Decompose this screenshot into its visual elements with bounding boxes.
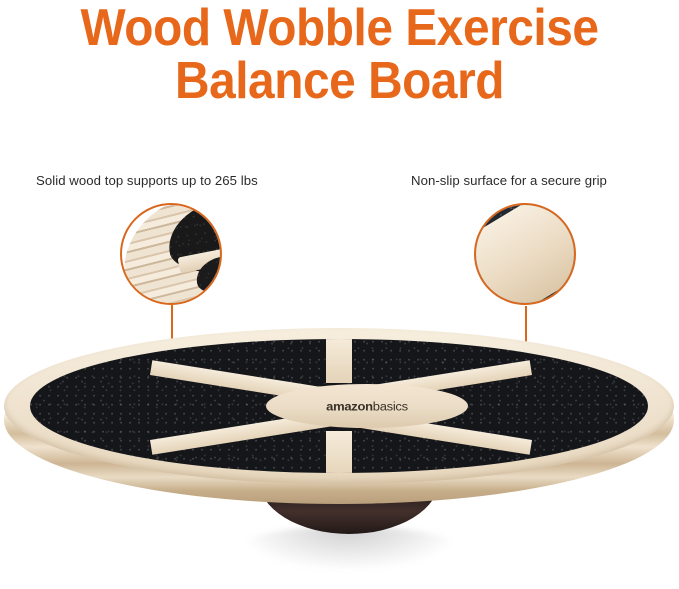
- product-infographic: Wood Wobble Exercise Balance Board Solid…: [0, 0, 679, 589]
- board-center-hub: amazonbasics: [266, 384, 468, 428]
- wood-spoke-bottom: [326, 431, 352, 473]
- callout-magnifier-left: [120, 203, 222, 305]
- callout-caption-right: Non-slip surface for a secure grip: [411, 173, 607, 188]
- callout-caption-left: Solid wood top supports up to 265 lbs: [36, 173, 258, 188]
- wood-spoke-top: [326, 339, 352, 383]
- logo-brand-prefix: amazon: [326, 399, 373, 413]
- page-title: Wood Wobble Exercise Balance Board: [0, 2, 679, 108]
- balance-board-image: amazonbasics: [4, 328, 674, 508]
- logo-brand-suffix: basics: [373, 399, 408, 413]
- title-line-1: Wood Wobble Exercise: [27, 2, 652, 55]
- board-grip-disc: amazonbasics: [30, 339, 648, 473]
- callout-magnifier-right: [474, 203, 576, 305]
- amazonbasics-logo: amazonbasics: [326, 399, 408, 413]
- title-line-2: Balance Board: [27, 55, 652, 108]
- board-top-surface: amazonbasics: [4, 328, 674, 484]
